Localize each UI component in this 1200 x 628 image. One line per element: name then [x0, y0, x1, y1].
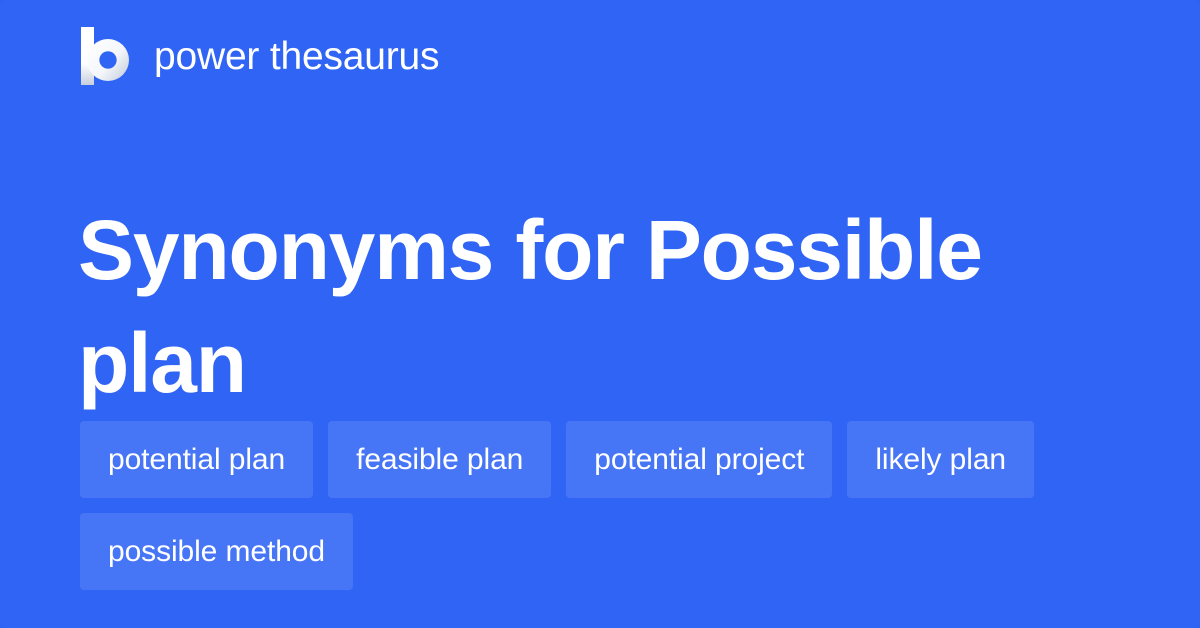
- page-title-line-1: Synonyms for Possible: [78, 203, 982, 297]
- synonym-chip[interactable]: possible method: [80, 513, 353, 590]
- synonym-chip-label: potential plan: [108, 445, 285, 475]
- page-title-line-2: plan: [78, 316, 246, 410]
- page-title: Synonyms for Possible plan: [78, 194, 1078, 420]
- brand-logo[interactable]: power thesaurus: [80, 26, 439, 86]
- synonym-chip-label: possible method: [108, 537, 325, 567]
- synonym-chip[interactable]: potential project: [566, 421, 832, 498]
- brand-name: power thesaurus: [154, 37, 439, 76]
- synonym-chip-list: potential plan feasible plan potential p…: [80, 421, 1120, 590]
- synonym-chip-label: likely plan: [875, 445, 1006, 475]
- synonym-chip-label: potential project: [594, 445, 804, 475]
- synonym-chip[interactable]: likely plan: [847, 421, 1034, 498]
- synonym-chip[interactable]: feasible plan: [328, 421, 551, 498]
- power-thesaurus-b-logo-icon: [80, 27, 132, 85]
- social-share-card: power thesaurus Synonyms for Possible pl…: [0, 0, 1200, 628]
- synonym-chip[interactable]: potential plan: [80, 421, 313, 498]
- synonym-chip-label: feasible plan: [356, 445, 523, 475]
